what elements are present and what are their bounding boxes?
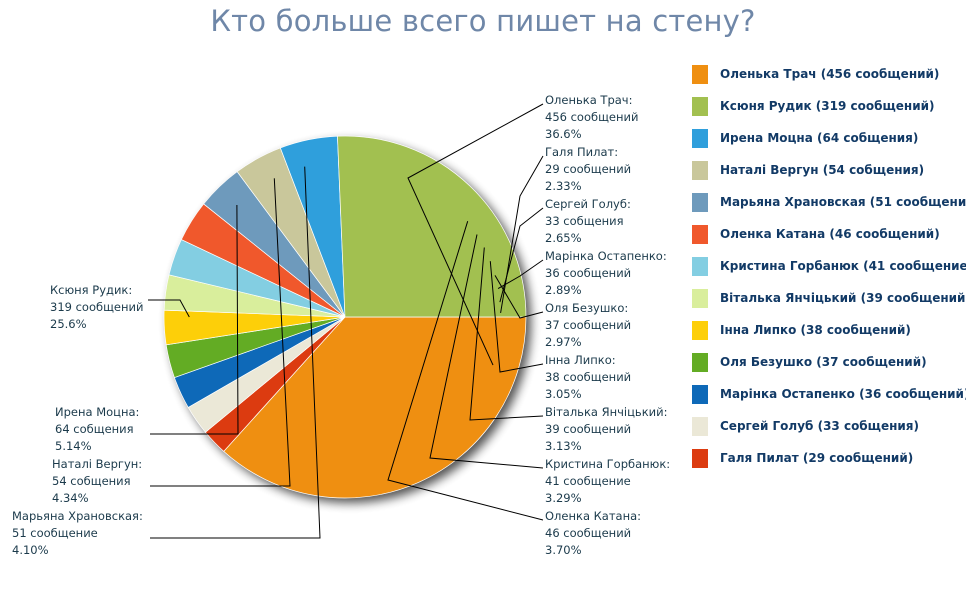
- callout-count: 54 собщения: [52, 473, 142, 490]
- callout-name: Оленка Катана:: [545, 508, 641, 525]
- legend-item-label: Сергей Голуб (33 собщения): [720, 419, 919, 433]
- callout-name: Наталі Вергун:: [52, 456, 142, 473]
- legend-item-label: Віталька Янчіцький (39 сообщений): [720, 291, 966, 305]
- callout-name: Ирена Моцна:: [55, 404, 139, 421]
- legend-item-label: Оленька Трач (456 сообщений): [720, 67, 939, 81]
- callout-percent: 36.6%: [545, 126, 638, 143]
- legend-item[interactable]: Оленька Трач (456 сообщений): [692, 58, 964, 90]
- callout-percent: 5.14%: [55, 438, 139, 455]
- legend-item[interactable]: Кристина Горбанюк (41 сообщение): [692, 250, 964, 282]
- legend-item-label: Кристина Горбанюк (41 сообщение): [720, 259, 966, 273]
- callout-count: 456 сообщений: [545, 109, 638, 126]
- legend-item-label: Оленка Катана (46 сообщений): [720, 227, 940, 241]
- legend-item[interactable]: Марьяна Храновская (51 сообщение): [692, 186, 964, 218]
- legend-color-swatch: [692, 129, 708, 148]
- legend-color-swatch: [692, 417, 708, 436]
- callout-count: 38 сообщений: [545, 369, 631, 386]
- legend-item[interactable]: Наталі Вергун (54 собщения): [692, 154, 964, 186]
- legend-item-label: Інна Липко (38 сообщений): [720, 323, 911, 337]
- legend-item[interactable]: Галя Пилат (29 сообщений): [692, 442, 964, 474]
- pie-callout: Інна Липко:38 сообщений3.05%: [545, 352, 631, 403]
- legend-item[interactable]: Сергей Голуб (33 собщения): [692, 410, 964, 442]
- legend-item-label: Наталі Вергун (54 собщения): [720, 163, 924, 177]
- callout-count: 37 сообщений: [545, 317, 631, 334]
- callout-percent: 4.10%: [12, 542, 143, 559]
- legend-item[interactable]: Інна Липко (38 сообщений): [692, 314, 964, 346]
- callout-count: 51 сообщение: [12, 525, 143, 542]
- legend-color-swatch: [692, 257, 708, 276]
- pie-callout: Ирена Моцна:64 собщения5.14%: [55, 404, 139, 455]
- legend-color-swatch: [692, 353, 708, 372]
- pie-chart-figure: Кто больше всего пишет на стену? Оленька…: [0, 0, 966, 604]
- callout-name: Марьяна Храновская:: [12, 508, 143, 525]
- callout-percent: 2.65%: [545, 230, 631, 247]
- legend-item[interactable]: Ксюня Рудик (319 сообщений): [692, 90, 964, 122]
- legend-item-label: Галя Пилат (29 сообщений): [720, 451, 913, 465]
- legend-color-swatch: [692, 193, 708, 212]
- callout-percent: 3.29%: [545, 490, 670, 507]
- pie-callout: Ксюня Рудик:319 сообщений25.6%: [50, 282, 143, 333]
- callout-percent: 2.33%: [545, 178, 631, 195]
- pie-callout: Марінка Остапенко:36 сообщений2.89%: [545, 248, 667, 299]
- callout-name: Віталька Янчіцький:: [545, 404, 667, 421]
- callout-name: Марінка Остапенко:: [545, 248, 667, 265]
- pie-callout: Віталька Янчіцький:39 сообщений3.13%: [545, 404, 667, 455]
- legend-item[interactable]: Марінка Остапенко (36 сообщений): [692, 378, 964, 410]
- callout-percent: 4.34%: [52, 490, 142, 507]
- callout-count: 29 сообщений: [545, 161, 631, 178]
- callout-name: Оленька Трач:: [545, 92, 638, 109]
- callout-name: Ксюня Рудик:: [50, 282, 143, 299]
- pie-callout: Галя Пилат:29 сообщений2.33%: [545, 144, 631, 195]
- legend-item[interactable]: Оля Безушко (37 сообщений): [692, 346, 964, 378]
- callout-name: Оля Безушко:: [545, 300, 631, 317]
- legend-item[interactable]: Ирена Моцна (64 собщения): [692, 122, 964, 154]
- pie-slices: [164, 136, 526, 498]
- legend-item-label: Марінка Остапенко (36 сообщений): [720, 387, 966, 401]
- callout-count: 33 собщения: [545, 213, 631, 230]
- callout-percent: 3.13%: [545, 438, 667, 455]
- pie-callout: Марьяна Храновская:51 сообщение4.10%: [12, 508, 143, 559]
- pie-callout: Оленька Трач:456 сообщений36.6%: [545, 92, 638, 143]
- legend-item-label: Ирена Моцна (64 собщения): [720, 131, 918, 145]
- pie-callout: Кристина Горбанюк:41 сообщение3.29%: [545, 456, 670, 507]
- legend-color-swatch: [692, 161, 708, 180]
- callout-percent: 3.70%: [545, 542, 641, 559]
- callout-count: 36 сообщений: [545, 265, 667, 282]
- callout-count: 319 сообщений: [50, 299, 143, 316]
- legend-item-label: Марьяна Храновская (51 сообщение): [720, 195, 966, 209]
- legend-item[interactable]: Віталька Янчіцький (39 сообщений): [692, 282, 964, 314]
- legend-color-swatch: [692, 289, 708, 308]
- callout-name: Кристина Горбанюк:: [545, 456, 670, 473]
- pie-callout: Наталі Вергун:54 собщения4.34%: [52, 456, 142, 507]
- callout-count: 39 сообщений: [545, 421, 667, 438]
- pie-slice[interactable]: [337, 136, 526, 317]
- legend-color-swatch: [692, 65, 708, 84]
- callout-count: 64 собщения: [55, 421, 139, 438]
- pie-callout: Сергей Голуб:33 собщения2.65%: [545, 196, 631, 247]
- legend-item[interactable]: Оленка Катана (46 сообщений): [692, 218, 964, 250]
- callout-percent: 2.89%: [545, 282, 667, 299]
- legend-item-label: Оля Безушко (37 сообщений): [720, 355, 927, 369]
- legend-color-swatch: [692, 449, 708, 468]
- callout-name: Галя Пилат:: [545, 144, 631, 161]
- callout-percent: 3.05%: [545, 386, 631, 403]
- pie-callout: Оля Безушко:37 сообщений2.97%: [545, 300, 631, 351]
- legend-color-swatch: [692, 385, 708, 404]
- callout-percent: 25.6%: [50, 316, 143, 333]
- callout-percent: 2.97%: [545, 334, 631, 351]
- callout-name: Сергей Голуб:: [545, 196, 631, 213]
- callout-count: 41 сообщение: [545, 473, 670, 490]
- legend-item-label: Ксюня Рудик (319 сообщений): [720, 99, 935, 113]
- legend-color-swatch: [692, 97, 708, 116]
- pie-callout: Оленка Катана:46 сообщений3.70%: [545, 508, 641, 559]
- chart-legend: Оленька Трач (456 сообщений)Ксюня Рудик …: [692, 58, 964, 474]
- legend-color-swatch: [692, 225, 708, 244]
- callout-name: Інна Липко:: [545, 352, 631, 369]
- legend-color-swatch: [692, 321, 708, 340]
- callout-count: 46 сообщений: [545, 525, 641, 542]
